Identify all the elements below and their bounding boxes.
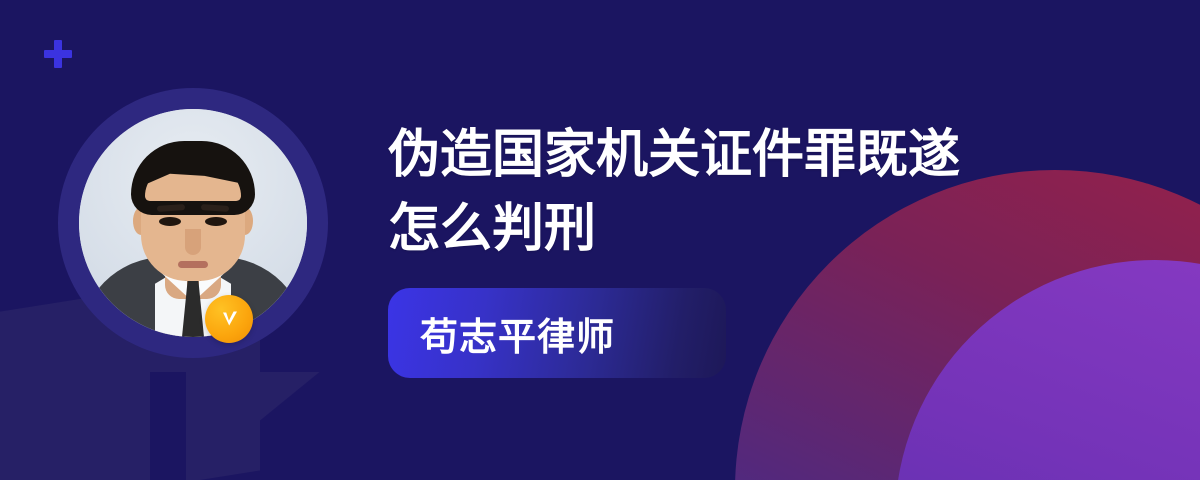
avatar-photo (79, 109, 307, 337)
page-title: 伪造国家机关证件罪既遂 怎么判刑 (388, 118, 1128, 266)
polygon-seam-column (150, 372, 186, 480)
plus-icon (44, 40, 72, 68)
content-block: 伪造国家机关证件罪既遂 怎么判刑 苟志平律师 (388, 118, 1128, 378)
author-button[interactable]: 苟志平律师 (388, 288, 726, 378)
legal-article-banner: 伪造国家机关证件罪既遂 怎么判刑 苟志平律师 (0, 0, 1200, 480)
verified-v-icon (205, 295, 253, 343)
avatar[interactable] (58, 88, 328, 358)
angled-polygon-mid (185, 372, 320, 480)
